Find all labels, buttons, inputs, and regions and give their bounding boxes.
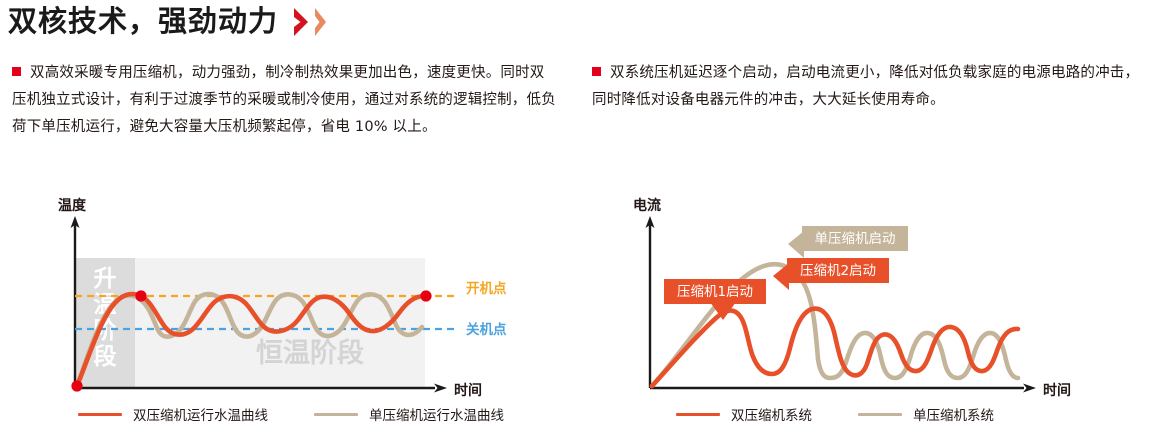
chevron-right-icon-primary: [292, 6, 312, 38]
x-axis-label: 时间: [1043, 382, 1071, 399]
heating-stage-label-char-1: 升: [94, 266, 117, 292]
feature-paragraph-left-text: 双高效采暖专用压缩机，动力强劲，制冷制热效果更加出色，速度更快。同时双压机独立式…: [12, 65, 556, 135]
page-title-row: 双核技术，强劲动力: [8, 4, 329, 38]
x-axis-arrow-icon: [1023, 384, 1036, 393]
legend-item-dual-system: 双压缩机系统: [676, 404, 812, 424]
callout-single-compressor-start: 单压缩机启动: [788, 226, 908, 258]
chevron-right-icon-secondary: [313, 6, 329, 38]
bullet-square-icon: [12, 67, 21, 76]
chevron-group: [292, 6, 329, 38]
off-point-label: 关机点: [466, 321, 507, 338]
temperature-chart-legend: 双压缩机运行水温曲线 单压缩机运行水温曲线: [78, 404, 504, 424]
page-title: 双核技术，强劲动力: [8, 7, 278, 36]
callout-single-compressor-start-label: 单压缩机启动: [815, 231, 896, 247]
x-axis-arrow-icon: [434, 384, 447, 393]
constant-stage-label: 恒温阶段: [256, 338, 364, 369]
callout-compressor-2-start: 压缩机2启动: [773, 258, 889, 290]
feature-paragraph-right-text: 双系统压机延迟逐个启动，启动电流更小，降低对低负载家庭的电源电路的冲击，同时降低…: [592, 65, 1139, 108]
callout-compressor-1-start: 压缩机1启动: [664, 279, 766, 320]
legend-item-single-compressor: 单压缩机运行水温曲线: [314, 404, 504, 424]
heating-stage-label-char-4: 段: [94, 343, 117, 370]
on-point-marker-end: [420, 290, 431, 301]
on-point-marker-start: [135, 290, 146, 301]
legend-label-single: 单压缩机运行水温曲线: [369, 404, 504, 424]
legend-item-single-system: 单压缩机系统: [858, 404, 994, 424]
legend-swatch-dual-icon: [676, 413, 720, 416]
temperature-chart: 升 温 阶 段 恒温阶段 温度 时间 开机点 关机点: [10, 196, 570, 430]
current-chart: 电流 时间 单压缩机启动 压缩机2启动 压缩机1启动: [592, 196, 1148, 430]
bullet-square-icon: [592, 67, 601, 76]
legend-label-dual: 双压缩机运行水温曲线: [133, 404, 268, 424]
legend-label-dual-system: 双压缩机系统: [731, 404, 812, 424]
on-point-label: 开机点: [466, 280, 507, 297]
x-axis-label: 时间: [454, 382, 482, 399]
y-axis-label: 电流: [633, 197, 661, 214]
callout-compressor-1-start-label: 压缩机1启动: [677, 284, 753, 300]
legend-swatch-dual-icon: [78, 413, 122, 416]
legend-item-dual-compressor: 双压缩机运行水温曲线: [78, 404, 268, 424]
legend-swatch-single-icon: [314, 413, 358, 416]
current-chart-legend: 双压缩机系统 单压缩机系统: [676, 404, 994, 424]
y-axis-label: 温度: [58, 197, 87, 214]
origin-marker: [71, 380, 82, 391]
callout-compressor-2-start-label: 压缩机2启动: [800, 263, 876, 279]
feature-paragraph-left: 双高效采暖专用压缩机，动力强劲，制冷制热效果更加出色，速度更快。同时双压机独立式…: [12, 60, 557, 141]
feature-paragraph-right: 双系统压机延迟逐个启动，启动电流更小，降低对低负载家庭的电源电路的冲击，同时降低…: [592, 60, 1140, 114]
legend-label-single-system: 单压缩机系统: [913, 404, 994, 424]
legend-swatch-single-icon: [858, 413, 902, 416]
